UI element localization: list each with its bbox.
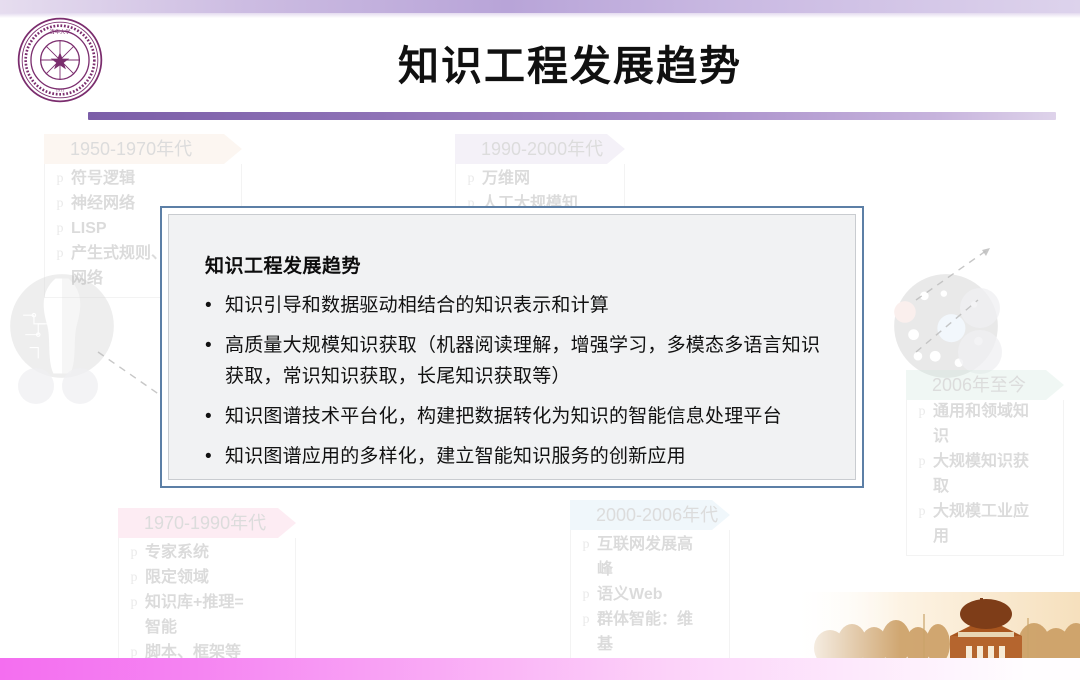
era-item-list: p 维基结构化 p 通用和领域知 识 p 大规模知识获 取 p 大规模工业应 [906, 400, 1064, 556]
era-bullet-marker: p [460, 166, 482, 191]
era-item-label: 产生式规则、 [71, 241, 167, 266]
bullet-glyph: • [205, 330, 225, 361]
list-item[interactable]: p 大规模知识获 [911, 449, 1059, 474]
era-item-label: 知识库+推理= [145, 590, 244, 615]
tsinghua-auditorium-photo [790, 592, 1080, 666]
list-item-continuation: 智能 [123, 615, 291, 640]
era-item-label: 互联网发展高 [597, 532, 693, 557]
era-block-2006-present[interactable]: 2006年至今 p 维基结构化 p 通用和领域知 识 p 大规模知识获 取 [906, 370, 1064, 556]
list-item-continuation: 取 [911, 474, 1059, 499]
era-bullet-marker: p [911, 449, 933, 474]
trend-callout-inner: 知识工程发展趋势 • 知识引导和数据驱动相结合的知识表示和计算 • 高质量大规模… [168, 214, 856, 480]
era-item-label: 网络 [71, 266, 103, 291]
era-label: 2006年至今 [932, 370, 1026, 400]
list-item[interactable]: p 限定领域 [123, 565, 291, 590]
era-bullet-marker: p [49, 166, 71, 191]
trend-callout-box[interactable]: 知识工程发展趋势 • 知识引导和数据驱动相结合的知识表示和计算 • 高质量大规模… [160, 206, 864, 488]
era-block-2000-2006[interactable]: 2000-2006年代 p 互联网发展高 峰 p 语义Web p 群体智能：维 … [570, 500, 730, 664]
era-item-label: 大规模知识获 [933, 449, 1029, 474]
era-label: 1990-2000年代 [481, 134, 603, 164]
era-bullet-marker: p [49, 216, 71, 241]
era-item-label: 大规模工业应 [933, 499, 1029, 524]
era-bullet-marker: p [49, 191, 71, 216]
era-item-label: 用 [933, 524, 949, 549]
era-item-label: 语义Web [597, 582, 663, 607]
era-bullet-marker: p [123, 565, 145, 590]
era-bullet-marker: p [575, 532, 597, 557]
era-item-label: 通用和领域知 [933, 399, 1029, 424]
callout-heading: 知识工程发展趋势 [205, 251, 829, 278]
list-item: • 知识引导和数据驱动相结合的知识表示和计算 [205, 290, 829, 321]
list-item[interactable]: p 符号逻辑 [49, 166, 237, 191]
era-block-1970-1990[interactable]: 1970-1990年代 p 专家系统 p 限定领域 p 知识库+推理= 智能 p… [118, 508, 296, 672]
callout-bullet-text: 知识图谱应用的多样化，建立智能知识服务的创新应用 [225, 441, 686, 472]
list-item[interactable]: p 通用和领域知 [911, 399, 1059, 424]
list-item-continuation: 用 [911, 524, 1059, 549]
bullet-glyph: • [205, 290, 225, 321]
era-header: 2006年至今 [906, 370, 1064, 400]
era-header: 1950-1970年代 [44, 134, 242, 164]
list-item[interactable]: p 万维网 [460, 166, 620, 191]
era-bullet-marker: p [911, 499, 933, 524]
era-bullet-marker: p [575, 582, 597, 607]
list-item: • 高质量大规模知识获取（机器阅读理解，增强学习，多模态多语言知识获取，常识知识… [205, 330, 829, 392]
list-item-continuation: 基 [575, 632, 725, 657]
era-item-list: p 专家系统 p 限定领域 p 知识库+推理= 智能 p 脚本、框架等 [118, 538, 296, 672]
era-label: 2000-2006年代 [596, 500, 718, 530]
era-bullet-marker: p [123, 540, 145, 565]
era-header: 2000-2006年代 [570, 500, 730, 530]
era-bullet-marker: p [575, 607, 597, 632]
list-item-continuation: 峰 [575, 557, 725, 582]
era-item-label: 万维网 [482, 166, 530, 191]
era-item-label: LISP [71, 216, 107, 241]
era-item-label: 符号逻辑 [71, 166, 135, 191]
list-item-continuation: 识 [911, 424, 1059, 449]
era-item-label: 限定领域 [145, 565, 209, 590]
era-header: 1970-1990年代 [118, 508, 296, 538]
list-item: • 知识图谱应用的多样化，建立智能知识服务的创新应用 [205, 441, 829, 472]
slide-canvas: 清华大学 1911 知识工程发展趋势 [0, 0, 1080, 680]
callout-bullet-text: 知识引导和数据驱动相结合的知识表示和计算 [225, 290, 609, 321]
list-item[interactable]: p 互联网发展高 [575, 532, 725, 557]
callout-bullet-list: • 知识引导和数据驱动相结合的知识表示和计算 • 高质量大规模知识获取（机器阅读… [205, 290, 829, 472]
era-item-label: 峰 [597, 557, 613, 582]
era-item-label: 取 [933, 474, 949, 499]
era-bullet-marker: p [123, 590, 145, 615]
list-item: • 知识图谱技术平台化，构建把数据转化为知识的智能信息处理平台 [205, 401, 829, 432]
bottom-decorative-bar [0, 658, 1080, 680]
era-bullet-marker: p [49, 241, 71, 266]
era-item-label: 智能 [145, 615, 177, 640]
list-item[interactable]: p 语义Web [575, 582, 725, 607]
era-item-label: 基 [597, 632, 613, 657]
list-item[interactable]: p 大规模工业应 [911, 499, 1059, 524]
era-item-label: 神经网络 [71, 191, 135, 216]
era-item-label: 专家系统 [145, 540, 209, 565]
era-label: 1970-1990年代 [144, 508, 266, 538]
era-item-label: 识 [933, 424, 949, 449]
list-item[interactable]: p 专家系统 [123, 540, 291, 565]
era-header: 1990-2000年代 [455, 134, 625, 164]
era-label: 1950-1970年代 [70, 134, 192, 164]
callout-bullet-text: 高质量大规模知识获取（机器阅读理解，增强学习，多模态多语言知识获取，常识知识获取… [225, 330, 829, 392]
era-bullet-marker: p [911, 399, 933, 424]
bullet-glyph: • [205, 441, 225, 472]
list-item[interactable]: p 知识库+推理= [123, 590, 291, 615]
callout-bullet-text: 知识图谱技术平台化，构建把数据转化为知识的智能信息处理平台 [225, 401, 782, 432]
era-item-list: p 互联网发展高 峰 p 语义Web p 群体智能：维 基 [570, 530, 730, 664]
era-item-label: 群体智能：维 [597, 607, 693, 632]
bullet-glyph: • [205, 401, 225, 432]
list-item[interactable]: p 群体智能：维 [575, 607, 725, 632]
